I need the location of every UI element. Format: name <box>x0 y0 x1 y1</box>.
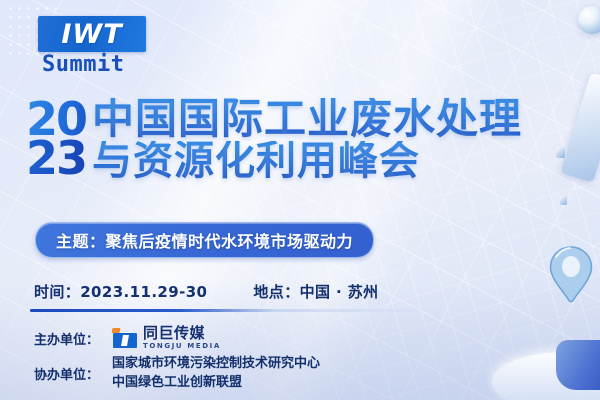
page-title: 中国国际工业废水处理 与资源化利用峰会 <box>92 98 522 182</box>
tongju-name-en: TONGJU MEDIA <box>143 343 221 350</box>
divider-line <box>30 309 425 312</box>
tongju-media-logo: 同巨传媒 TONGJU MEDIA <box>112 326 221 350</box>
summit-logo-text: Summit <box>42 54 158 76</box>
glass-cylinder-decoration <box>556 340 600 390</box>
event-location: 地点：中国 · 苏州 <box>253 281 378 302</box>
coorganizer-list: 国家城市环境污染控制技术研究中心 中国绿色工业创新联盟 <box>112 355 320 393</box>
title-line-1: 中国国际工业废水处理 <box>92 98 522 141</box>
iwt-logo-badge: IWT <box>38 16 146 52</box>
host-row: 主办单位： 同巨传媒 TONGJU MEDIA <box>34 326 320 350</box>
event-meta-row: 时间：2023.11.29-30 地点：中国 · 苏州 <box>34 281 379 302</box>
coorganizer-1: 国家城市环境污染控制技术研究中心 <box>112 356 320 371</box>
coorganizer-2: 中国绿色工业创新联盟 <box>112 375 242 390</box>
glass-chip-decoration-1 <box>556 147 565 158</box>
year-bottom-digits: 23 <box>26 139 86 178</box>
headline-block: 20 23 中国国际工业废水处理 与资源化利用峰会 <box>26 98 522 182</box>
host-label: 主办单位： <box>34 329 112 348</box>
tongju-name-group: 同巨传媒 TONGJU MEDIA <box>143 326 221 350</box>
coorganizer-row: 协办单位： 国家城市环境污染控制技术研究中心 中国绿色工业创新联盟 <box>34 355 320 393</box>
glass-sphere-decoration <box>578 6 600 34</box>
tongju-mark-icon <box>112 328 138 348</box>
coorganizer-label: 协办单位： <box>34 364 112 383</box>
map-pin-icon <box>548 245 594 303</box>
organizers-block: 主办单位： 同巨传媒 TONGJU MEDIA 协办单位： 国家城市环境污染控制… <box>34 326 320 398</box>
iwt-logo-text: IWT <box>61 21 122 48</box>
conference-poster: IWT Summit 20 23 中国国际工业废水处理 与资源化利用峰会 主题：… <box>0 0 600 400</box>
theme-banner: 主题：聚焦后疫情时代水环境市场驱动力 <box>35 222 374 258</box>
theme-text: 主题：聚焦后疫情时代水环境市场驱动力 <box>56 228 353 252</box>
glass-disc-decoration <box>492 352 600 400</box>
title-line-2: 与资源化利用峰会 <box>92 141 522 182</box>
glass-panel-decoration <box>560 72 600 182</box>
iwt-summit-logo: IWT Summit <box>38 16 158 86</box>
year-2023: 20 23 <box>26 100 86 177</box>
tongju-name-cn: 同巨传媒 <box>143 326 221 341</box>
glass-chip-decoration-2 <box>560 196 567 205</box>
event-date: 时间：2023.11.29-30 <box>34 281 207 302</box>
